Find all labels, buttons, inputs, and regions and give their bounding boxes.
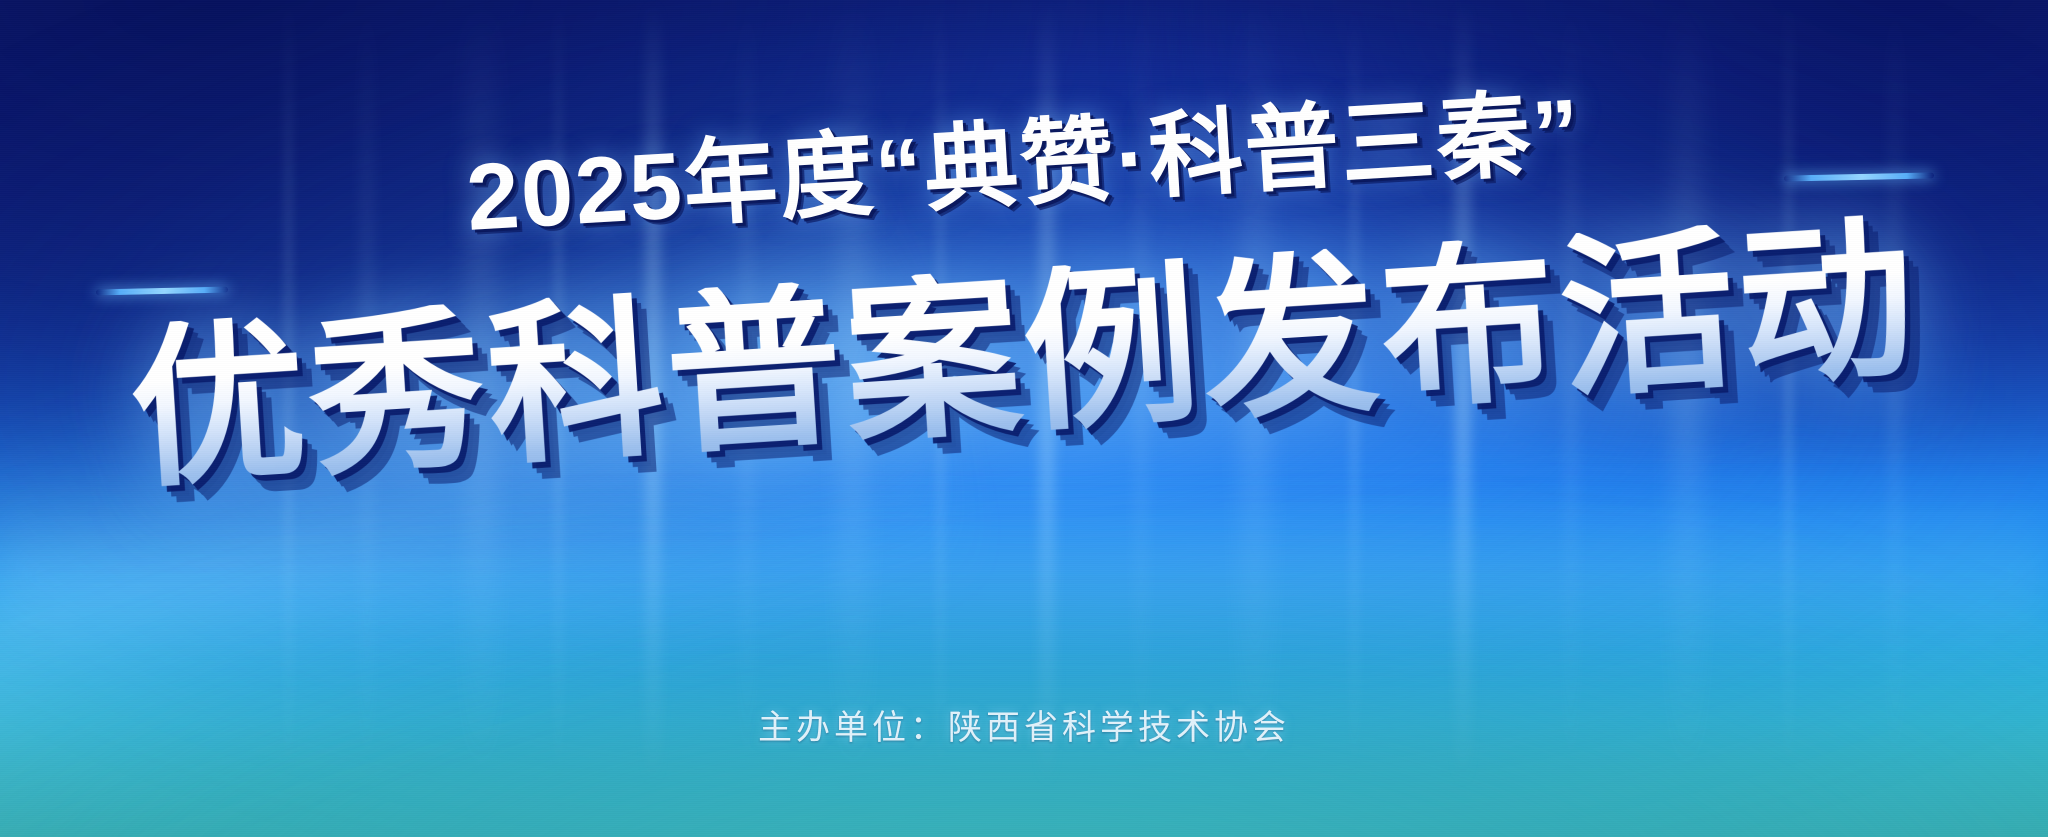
banner-subtitle-text: 2025年度“典赞·科普三秦”	[464, 85, 1584, 245]
banner-headline-text: 优秀科普案例发布活动	[125, 212, 1922, 499]
organizer-text: 主办单位：陕西省科学技术协会	[758, 700, 1290, 749]
event-banner: 2025年度“典赞·科普三秦” 优秀科普案例发布活动 主办单位：陕西省科学技术协…	[0, 0, 2048, 837]
organizer-line: 主办单位：陕西省科学技术协会	[0, 700, 2048, 749]
title-block: 2025年度“典赞·科普三秦” 优秀科普案例发布活动 主办单位：陕西省科学技术协…	[0, 0, 2048, 837]
